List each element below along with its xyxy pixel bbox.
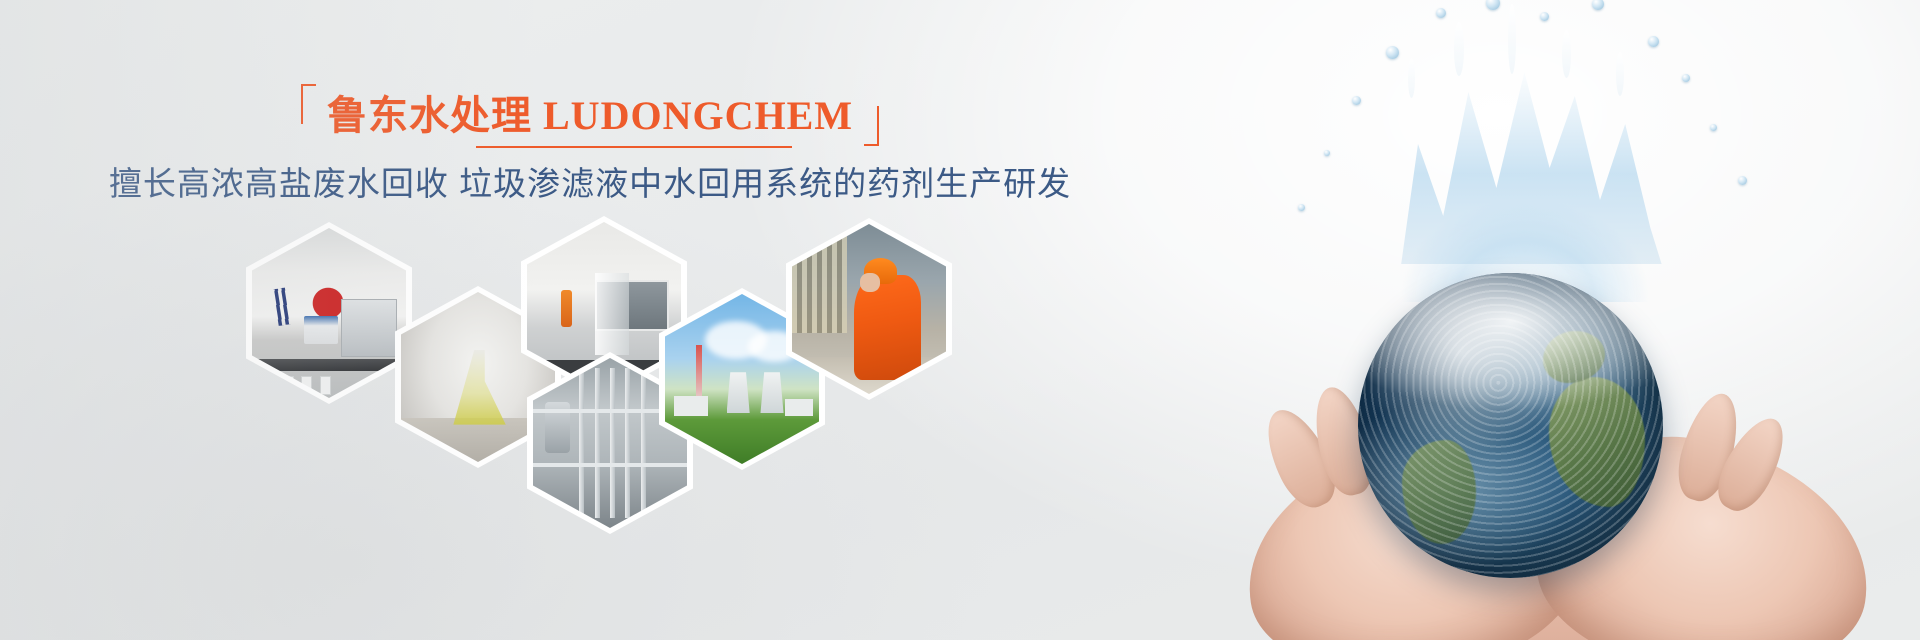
water-droplet: [1710, 124, 1717, 131]
water-droplet: [1540, 12, 1549, 21]
cooling-tower: [727, 372, 750, 413]
distillation-rig: [595, 273, 629, 355]
water-streak: [1562, 30, 1571, 78]
vertical-pipe: [595, 368, 600, 518]
globe-water-foam: [1358, 273, 1663, 578]
water-droplet: [1648, 36, 1659, 47]
water-droplet: [1682, 74, 1690, 82]
water-droplet: [1386, 46, 1399, 59]
vertical-pipe: [610, 368, 615, 518]
cooling-tower: [760, 372, 783, 413]
water-droplet: [1592, 0, 1604, 10]
water-droplet: [1436, 8, 1446, 18]
plant-building: [785, 399, 813, 416]
earth-globe: [1358, 273, 1663, 578]
water-streak: [1408, 58, 1415, 98]
worker-face: [860, 273, 880, 292]
vertical-pipe: [625, 368, 630, 518]
water-droplet: [1352, 96, 1361, 105]
hexagon-photo-cluster: [0, 0, 1000, 640]
water-streak: [1616, 52, 1624, 96]
lab-jug: [320, 376, 331, 395]
lab-bench: [258, 359, 400, 371]
water-droplet: [1324, 150, 1330, 156]
water-streak: [1508, 4, 1516, 74]
water-streak: [1454, 22, 1464, 76]
water-droplet: [1738, 176, 1747, 185]
orange-equipment: [561, 290, 572, 327]
lab-instrument: [304, 316, 338, 343]
erlenmeyer-flask: [453, 350, 505, 425]
vertical-pipe: [579, 368, 584, 518]
vertical-pipe: [641, 368, 646, 518]
water-droplet: [1298, 204, 1305, 211]
railing: [533, 463, 687, 467]
plant-building: [674, 396, 708, 416]
hero-banner: 鲁东水处理 LUDONGCHEM 擅长高浓高盐废水回收 垃圾渗滤液中水回用系统的…: [0, 0, 1920, 640]
water-globe-artwork: [1180, 0, 1920, 640]
splash-crown-front: [1390, 64, 1670, 264]
water-droplet: [1486, 0, 1500, 10]
lab-cabinet: [341, 299, 396, 357]
